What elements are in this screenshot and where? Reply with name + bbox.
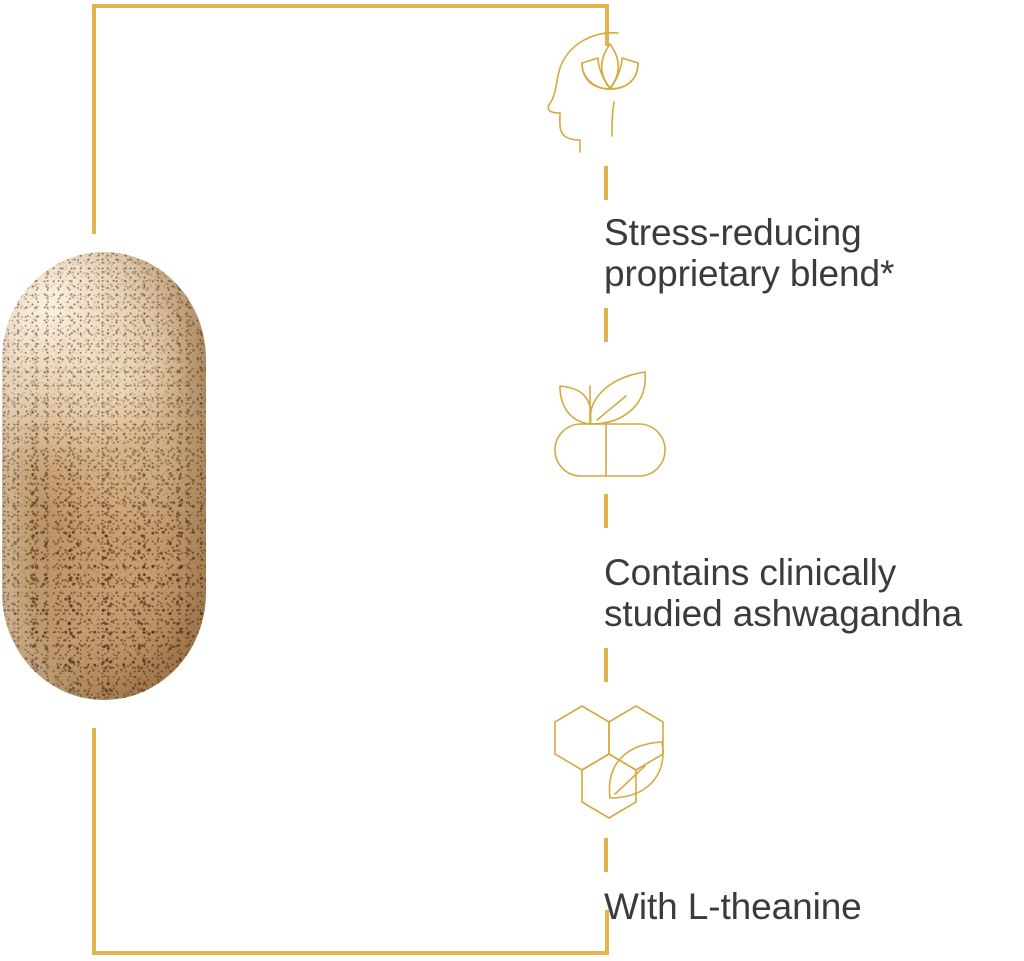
dash-segment bbox=[604, 308, 608, 342]
bracket-top-edge bbox=[92, 4, 609, 8]
tablet-body bbox=[2, 252, 206, 700]
supplement-tablet bbox=[2, 252, 206, 700]
dash-segment bbox=[604, 494, 608, 528]
benefit-1-text: Stress-reducing proprietary blend* bbox=[604, 212, 1024, 295]
infographic-canvas: Stress-reducing proprietary blend* Conta… bbox=[0, 0, 1024, 961]
bracket-bottom-edge bbox=[92, 951, 609, 955]
benefit-3-text: With L-theanine bbox=[604, 886, 1024, 927]
dash-segment bbox=[604, 648, 608, 682]
bracket-left-lower bbox=[92, 728, 96, 955]
dash-segment bbox=[604, 838, 608, 872]
honeycomb-leaf-icon bbox=[552, 700, 674, 826]
capsule-leaf-icon bbox=[546, 368, 674, 484]
benefit-2-text: Contains clinically studied ashwagandha bbox=[604, 552, 1024, 635]
dash-segment bbox=[604, 166, 608, 200]
bracket-left-upper bbox=[92, 4, 96, 234]
mind-lotus-icon bbox=[546, 28, 674, 156]
